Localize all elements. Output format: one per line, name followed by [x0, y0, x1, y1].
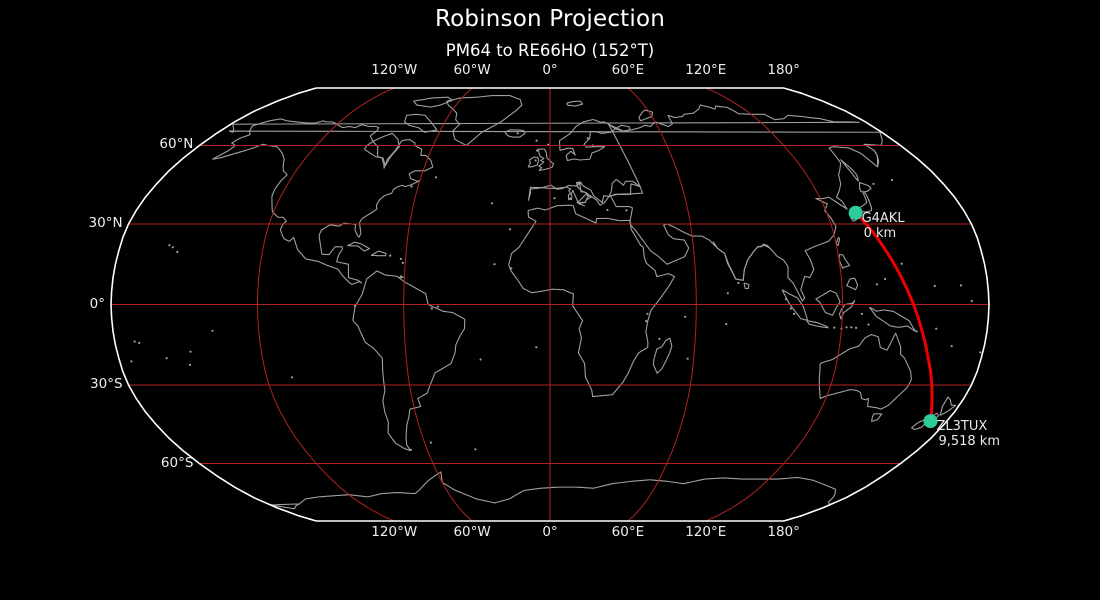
island-dot: [189, 351, 191, 353]
island-dot: [658, 338, 660, 340]
island-dot: [166, 357, 168, 359]
island-dot: [168, 244, 170, 246]
island-dot: [354, 305, 356, 307]
island-dot: [569, 197, 571, 199]
island-dot: [410, 449, 412, 451]
station-marker-g4akl[interactable]: [849, 206, 863, 220]
island-dot: [517, 132, 519, 134]
island-dot: [536, 149, 538, 151]
island-dot: [951, 345, 953, 347]
island-dot: [480, 358, 482, 360]
island-dot: [872, 183, 874, 185]
island-dot: [916, 330, 918, 332]
island-dot: [790, 307, 792, 309]
island-dot: [850, 326, 852, 328]
bottom-axis-label-60degW: 60°W: [412, 524, 532, 540]
island-dot: [138, 342, 140, 344]
island-dot: [535, 159, 537, 161]
island-dot: [579, 203, 581, 205]
island-dot: [510, 267, 512, 269]
island-dot: [687, 358, 689, 360]
island-dot: [901, 263, 903, 265]
island-dot: [189, 364, 191, 366]
island-dot: [971, 300, 973, 302]
island-dot: [876, 283, 878, 285]
island-dot: [645, 320, 647, 322]
island-dot: [402, 262, 404, 264]
island-dot: [410, 185, 412, 187]
island-dot: [891, 179, 893, 181]
island-dot: [725, 323, 727, 325]
island-dot: [535, 346, 537, 348]
island-dot: [474, 448, 476, 450]
island-dot: [172, 246, 174, 248]
left-axis-label-60degN: 60°N: [73, 136, 193, 152]
top-axis-label-60degW: 60°W: [412, 62, 532, 78]
island-dot: [960, 284, 962, 286]
island-dot: [176, 251, 178, 253]
island-dot: [493, 263, 495, 265]
island-dot: [855, 327, 857, 329]
island-dot: [491, 202, 493, 204]
island-dot: [435, 176, 437, 178]
island-dot: [625, 209, 627, 211]
left-axis-label-60degS: 60°S: [73, 455, 193, 471]
island-dot: [211, 330, 213, 332]
left-axis-label-0deg: 0°: [0, 296, 105, 312]
island-dot: [935, 328, 937, 330]
island-dot: [833, 327, 835, 329]
island-dot: [737, 282, 739, 284]
island-dot: [437, 306, 439, 308]
island-dot: [509, 228, 511, 230]
island-dot: [785, 298, 787, 300]
station-marker-zl3tux[interactable]: [924, 414, 938, 428]
island-dot: [536, 140, 538, 142]
island-dot: [684, 316, 686, 318]
island-dot: [431, 307, 433, 309]
robinson-map[interactable]: [0, 0, 1100, 600]
island-dot: [867, 324, 869, 326]
bottom-axis-label-180deg: 180°: [724, 524, 844, 540]
island-dot: [979, 351, 981, 353]
island-dot: [606, 209, 608, 211]
island-dot: [389, 255, 391, 257]
map-figure: Robinson Projection PM64 to RE66HO (152°…: [0, 0, 1100, 600]
island-dot: [430, 442, 432, 444]
island-dot: [130, 360, 132, 362]
left-axis-label-30degN: 30°N: [3, 215, 123, 231]
island-dot: [884, 278, 886, 280]
top-axis-label-180deg: 180°: [724, 62, 844, 78]
island-dot: [400, 258, 402, 260]
island-dot: [291, 376, 293, 378]
island-dot: [553, 197, 555, 199]
island-dot: [727, 292, 729, 294]
island-dot: [793, 313, 795, 315]
island-dot: [861, 313, 863, 315]
island-dot: [646, 313, 648, 315]
island-dot: [587, 137, 589, 139]
island-dot: [134, 340, 136, 342]
island-dot: [934, 285, 936, 287]
left-axis-label-30degS: 30°S: [3, 376, 123, 392]
island-dot: [845, 326, 847, 328]
